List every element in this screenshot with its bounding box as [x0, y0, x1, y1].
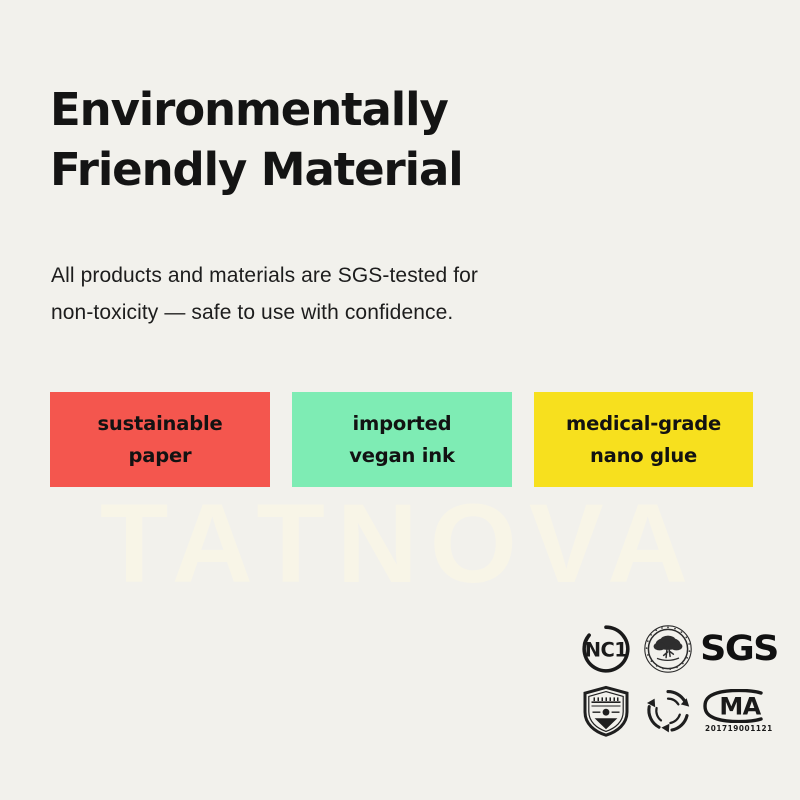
page-title-line-1: Environmentally — [50, 80, 710, 139]
sgs-logo: SGS — [697, 618, 780, 680]
description-line-1: All products and materials are SGS-teste… — [51, 257, 691, 294]
chip-label-line-1: sustainable — [98, 408, 223, 439]
material-chip-medical-grade-nano-glue: medical-grade nano glue — [534, 392, 753, 487]
cma-mark-icon: MA 201719001121 — [699, 680, 779, 742]
chip-label-line-2: nano glue — [590, 440, 697, 471]
shield-crest-icon — [575, 680, 637, 742]
recycling-arrows-icon — [637, 680, 699, 742]
chip-label-line-2: vegan ink — [349, 440, 454, 471]
svg-text:NC1: NC1 — [585, 638, 627, 661]
chip-label-line-1: medical-grade — [566, 408, 721, 439]
page-title-line-2: Friendly Material — [50, 140, 710, 199]
description-text: All products and materials are SGS-teste… — [51, 257, 691, 332]
material-chip-sustainable-paper: sustainable paper — [50, 392, 270, 487]
chip-label-line-2: paper — [129, 440, 192, 471]
nc1-mark-icon: NC1 — [575, 618, 637, 680]
svg-text:MA: MA — [719, 693, 761, 721]
cma-certificate-number: 201719001121 — [705, 724, 773, 733]
infographic-card: TATNOVA Environmentally Friendly Materia… — [0, 0, 800, 800]
certification-badge-group: NC1 — [575, 618, 779, 746]
material-chip-imported-vegan-ink: imported vegan ink — [292, 392, 512, 487]
tree-seal-icon — [637, 618, 699, 680]
page-title: Environmentally Friendly Material — [50, 80, 710, 199]
brand-watermark: TATNOVA — [0, 488, 800, 600]
chip-label-line-1: imported — [353, 408, 452, 439]
description-line-2: non-toxicity — safe to use with confiden… — [51, 294, 691, 331]
material-chip-group: sustainable paper imported vegan ink med… — [50, 392, 753, 487]
